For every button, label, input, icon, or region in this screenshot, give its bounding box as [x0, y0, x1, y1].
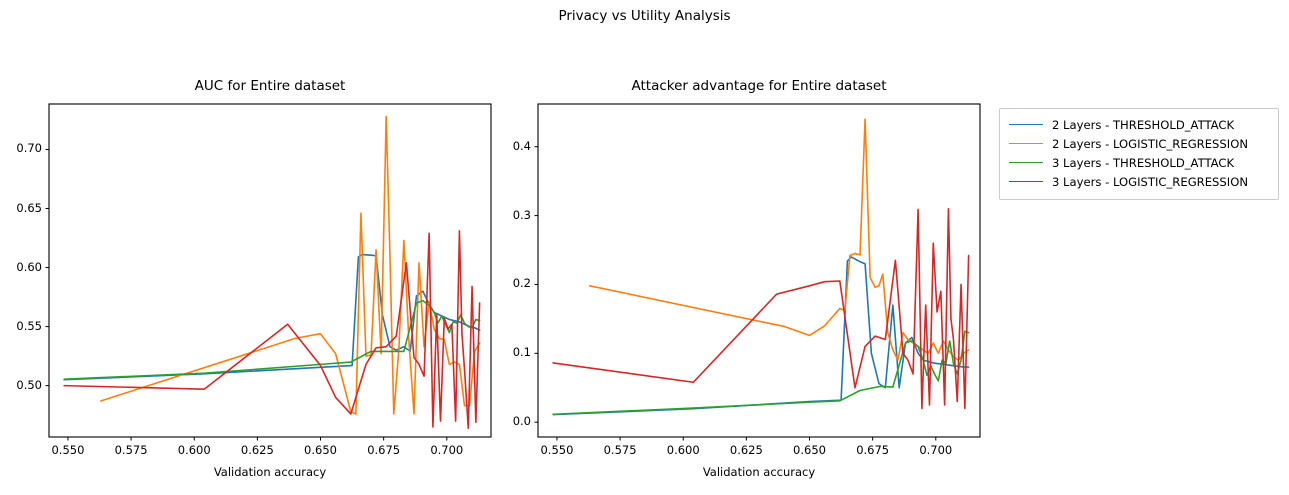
- legend-item-1[interactable]: 2 Layers - LOGISTIC_REGRESSION: [1002, 134, 1270, 153]
- axis-ticks: [535, 147, 936, 441]
- y-tick-label: 0.4: [489, 139, 531, 153]
- subplot-attacker-advantage: Attacker advantage for Entire dataset0.5…: [489, 60, 989, 495]
- y-tick-label: 0.2: [489, 276, 531, 290]
- y-tick-label: 0.1: [489, 345, 531, 359]
- series-line-3: [553, 209, 968, 409]
- subplot-title-auc: AUC for Entire dataset: [49, 78, 491, 94]
- x-tick-label: 0.650: [780, 443, 840, 457]
- x-tick-label: 0.625: [716, 443, 776, 457]
- y-tick-label: 0.70: [0, 141, 42, 155]
- legend-swatch-icon: [1009, 162, 1043, 163]
- plot-area-attacker-advantage: [489, 60, 989, 495]
- legend-label: 2 Layers - THRESHOLD_ATTACK: [1052, 118, 1234, 132]
- x-tick-label: 0.625: [227, 443, 287, 457]
- legend-item-0[interactable]: 2 Layers - THRESHOLD_ATTACK: [1002, 115, 1270, 134]
- legend-label: 3 Layers - THRESHOLD_ATTACK: [1052, 156, 1234, 170]
- axis-ticks: [46, 149, 447, 440]
- legend-swatch-icon: [1009, 181, 1043, 182]
- legend-swatch-icon: [1009, 124, 1043, 125]
- y-tick-label: 0.3: [489, 208, 531, 222]
- x-tick-label: 0.575: [590, 443, 650, 457]
- legend-item-3[interactable]: 3 Layers - LOGISTIC_REGRESSION: [1002, 172, 1270, 191]
- x-tick-label: 0.675: [354, 443, 414, 457]
- subplot-title-attacker-advantage: Attacker advantage for Entire dataset: [538, 78, 980, 94]
- figure-root: Privacy vs Utility Analysis AUC for Enti…: [0, 0, 1289, 495]
- x-tick-label: 0.600: [653, 443, 713, 457]
- x-axis-label-attacker-advantage: Validation accuracy: [538, 465, 980, 479]
- x-tick-label: 0.675: [843, 443, 903, 457]
- legend-label: 2 Layers - LOGISTIC_REGRESSION: [1052, 137, 1248, 151]
- legend-swatch-icon: [1009, 143, 1043, 144]
- x-tick-label: 0.550: [527, 443, 587, 457]
- x-tick-label: 0.700: [906, 443, 966, 457]
- x-tick-label: 0.550: [38, 443, 98, 457]
- series-line-0: [553, 257, 968, 415]
- y-tick-label: 0.0: [489, 414, 531, 428]
- axes-frame: [538, 104, 980, 437]
- series-line-1: [590, 119, 969, 360]
- x-axis-label-auc: Validation accuracy: [49, 465, 491, 479]
- x-tick-label: 0.700: [417, 443, 477, 457]
- legend: 2 Layers - THRESHOLD_ATTACK2 Layers - LO…: [999, 108, 1279, 200]
- legend-label: 3 Layers - LOGISTIC_REGRESSION: [1052, 175, 1248, 189]
- legend-item-2[interactable]: 3 Layers - THRESHOLD_ATTACK: [1002, 153, 1270, 172]
- series-line-2: [553, 331, 968, 414]
- figure-suptitle: Privacy vs Utility Analysis: [0, 8, 1289, 24]
- x-tick-label: 0.650: [291, 443, 351, 457]
- x-tick-label: 0.575: [101, 443, 161, 457]
- plot-area-auc: [0, 60, 500, 495]
- y-tick-label: 0.50: [0, 378, 42, 392]
- x-tick-label: 0.600: [164, 443, 224, 457]
- subplot-auc: AUC for Entire dataset0.5500.5750.6000.6…: [0, 60, 500, 495]
- y-tick-label: 0.60: [0, 260, 42, 274]
- y-tick-label: 0.65: [0, 201, 42, 215]
- y-tick-label: 0.55: [0, 319, 42, 333]
